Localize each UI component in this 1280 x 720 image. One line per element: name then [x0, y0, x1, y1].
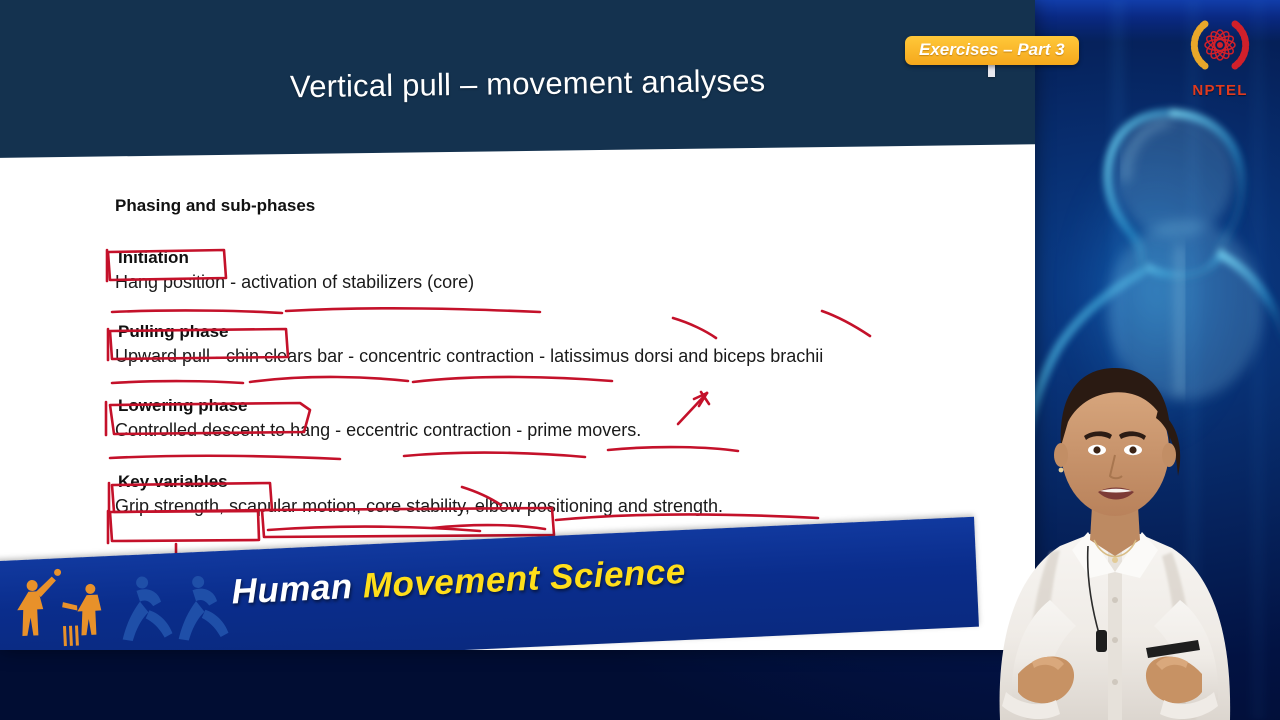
badge-label: Exercises – Part 3: [905, 36, 1079, 65]
phase-block-pulling: Pulling phase Upward pull - chin clears …: [0, 320, 1035, 367]
course-part-badge: Exercises – Part 3: [905, 36, 1079, 65]
nptel-atom-icon: [1183, 14, 1257, 76]
footer-title-white: Human: [231, 567, 354, 611]
phase-text-lowering: Controlled descent to hang - eccentric c…: [115, 420, 1035, 441]
footer-banner: Human Movement Science: [0, 517, 979, 650]
phase-block-initiation: Initiation Hang position - activation of…: [0, 246, 1035, 293]
footer-title-yellow: Movement Science: [362, 552, 687, 606]
ink-underline-scapular: [268, 527, 480, 531]
phase-block-key-variables: Key variables Grip strength, scapular mo…: [0, 470, 1035, 517]
phase-text-pulling: Upward pull - chin clears bar - concentr…: [115, 346, 1035, 367]
slide-body: Phasing and sub-phases Initiation Hang p…: [0, 160, 1035, 517]
phase-label-key-variables: Key variables: [115, 470, 232, 494]
phase-text-initiation: Hang position - activation of stabilizer…: [115, 272, 1035, 293]
section-heading: Phasing and sub-phases: [115, 196, 1035, 216]
presenter-lapel-mic: [1096, 630, 1107, 652]
phase-label-pulling: Pulling phase: [115, 320, 233, 344]
footer-title: Human Movement Science: [231, 552, 687, 613]
studio-stage: Vertical pull – movement analyses Phasin…: [0, 0, 1280, 720]
slide-header-band: [0, 0, 1035, 158]
presenter-video: [940, 300, 1280, 720]
nptel-logo: NPTEL: [1178, 14, 1262, 99]
nptel-logo-text: NPTEL: [1178, 82, 1262, 99]
ink-underline-core-stability: [432, 525, 545, 529]
phase-label-initiation: Initiation: [115, 246, 193, 270]
phase-text-key-variables: Grip strength, scapular motion, core sta…: [115, 496, 1035, 517]
presentation-slide: Vertical pull – movement analyses Phasin…: [0, 0, 1035, 650]
phase-label-lowering: Lowering phase: [115, 394, 251, 418]
phase-block-lowering: Lowering phase Controlled descent to han…: [0, 394, 1035, 441]
sports-figures-icon: [0, 557, 231, 650]
